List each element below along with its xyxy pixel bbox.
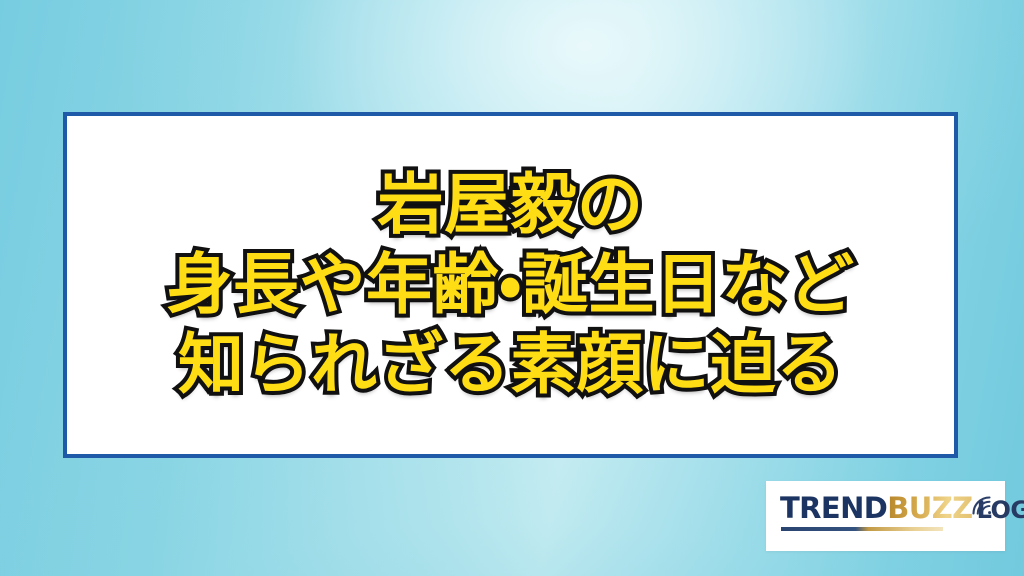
thumbnail-canvas: 岩屋毅の 身長や年齢・誕生日など 知られざる素顔に迫る TREND BUZZ L… <box>0 0 1024 576</box>
headline-line-1: 岩屋毅の <box>77 165 944 245</box>
logo-text-trend: TREND <box>780 494 887 523</box>
site-logo-inner: TREND BUZZ LOG <box>780 492 997 541</box>
logo-text-buzz: BUZZ <box>887 494 972 523</box>
wifi-dot-icon <box>988 511 991 514</box>
headline-title-block: 岩屋毅の 身長や年齢・誕生日など 知られざる素顔に迫る <box>67 165 954 405</box>
headline-line-2: 身長や年齢・誕生日など <box>77 245 944 325</box>
wifi-signal-icon <box>969 492 995 516</box>
logo-underline-bar <box>781 527 943 531</box>
headline-card: 岩屋毅の 身長や年齢・誕生日など 知られざる素顔に迫る <box>63 112 958 458</box>
headline-line-3: 知られざる素顔に迫る <box>77 325 944 405</box>
site-logo-badge[interactable]: TREND BUZZ LOG <box>766 481 1005 551</box>
